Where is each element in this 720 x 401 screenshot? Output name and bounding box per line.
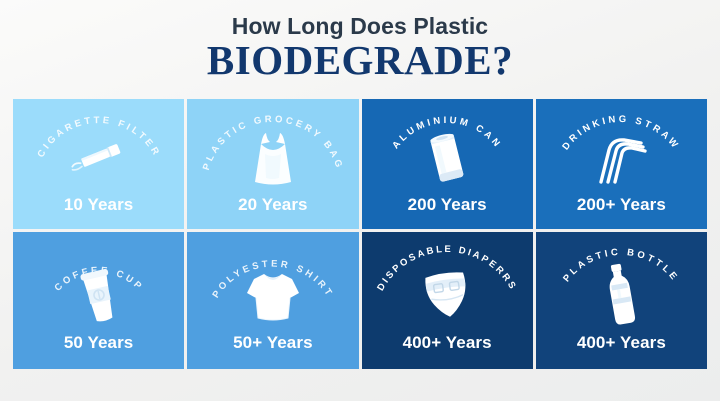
- tile-years-value: 200 Years: [362, 195, 533, 215]
- tile-drinking-straw[interactable]: DRINKING STRAW 200+ Years: [536, 99, 707, 229]
- tile-disposable-diapers[interactable]: DISPOSABLE DIAPERRS 400+ Years: [362, 232, 533, 369]
- infographic-root: How Long Does Plastic BIODEGRADE? CIGARE…: [0, 0, 720, 401]
- diaper-icon: [412, 262, 482, 328]
- heading-block: How Long Does Plastic BIODEGRADE?: [0, 0, 720, 82]
- tile-years-value: 20 Years: [187, 195, 358, 215]
- tile-coffee-cup[interactable]: COFFEE CUP 50 Years: [13, 232, 184, 369]
- tile-plastic-grocery-bag[interactable]: PLASTIC GROCERY BAG 20 Years: [187, 99, 358, 229]
- plastic-bag-icon: [238, 125, 308, 191]
- aluminium-can-icon: [412, 125, 482, 191]
- tile-years-value: 10 Years: [13, 195, 184, 215]
- tile-years-value: 400+ Years: [362, 333, 533, 353]
- tile-plastic-bottle[interactable]: PLASTIC BOTTLE 400+ Years: [536, 232, 707, 369]
- coffee-cup-icon: [64, 262, 134, 328]
- tile-cigarette-filter[interactable]: CIGARETTE FILTER 10 Years: [13, 99, 184, 229]
- tshirt-icon: [238, 262, 308, 328]
- tile-years-value: 50+ Years: [187, 333, 358, 353]
- tile-polyester-shirt[interactable]: POLYESTER SHIRT 50+ Years: [187, 232, 358, 369]
- tile-aluminium-can[interactable]: ALUMINIUM CAN 200 Years: [362, 99, 533, 229]
- plastic-bottle-icon: [586, 262, 656, 328]
- tile-years-value: 50 Years: [13, 333, 184, 353]
- drinking-straw-icon: [586, 125, 656, 191]
- heading-subtitle: How Long Does Plastic: [0, 14, 720, 38]
- tile-years-value: 400+ Years: [536, 333, 707, 353]
- biodegrade-tile-grid: CIGARETTE FILTER 10 Years: [13, 99, 707, 374]
- tile-years-value: 200+ Years: [536, 195, 707, 215]
- page-title: BIODEGRADE?: [0, 39, 720, 82]
- cigarette-icon: [64, 125, 134, 191]
